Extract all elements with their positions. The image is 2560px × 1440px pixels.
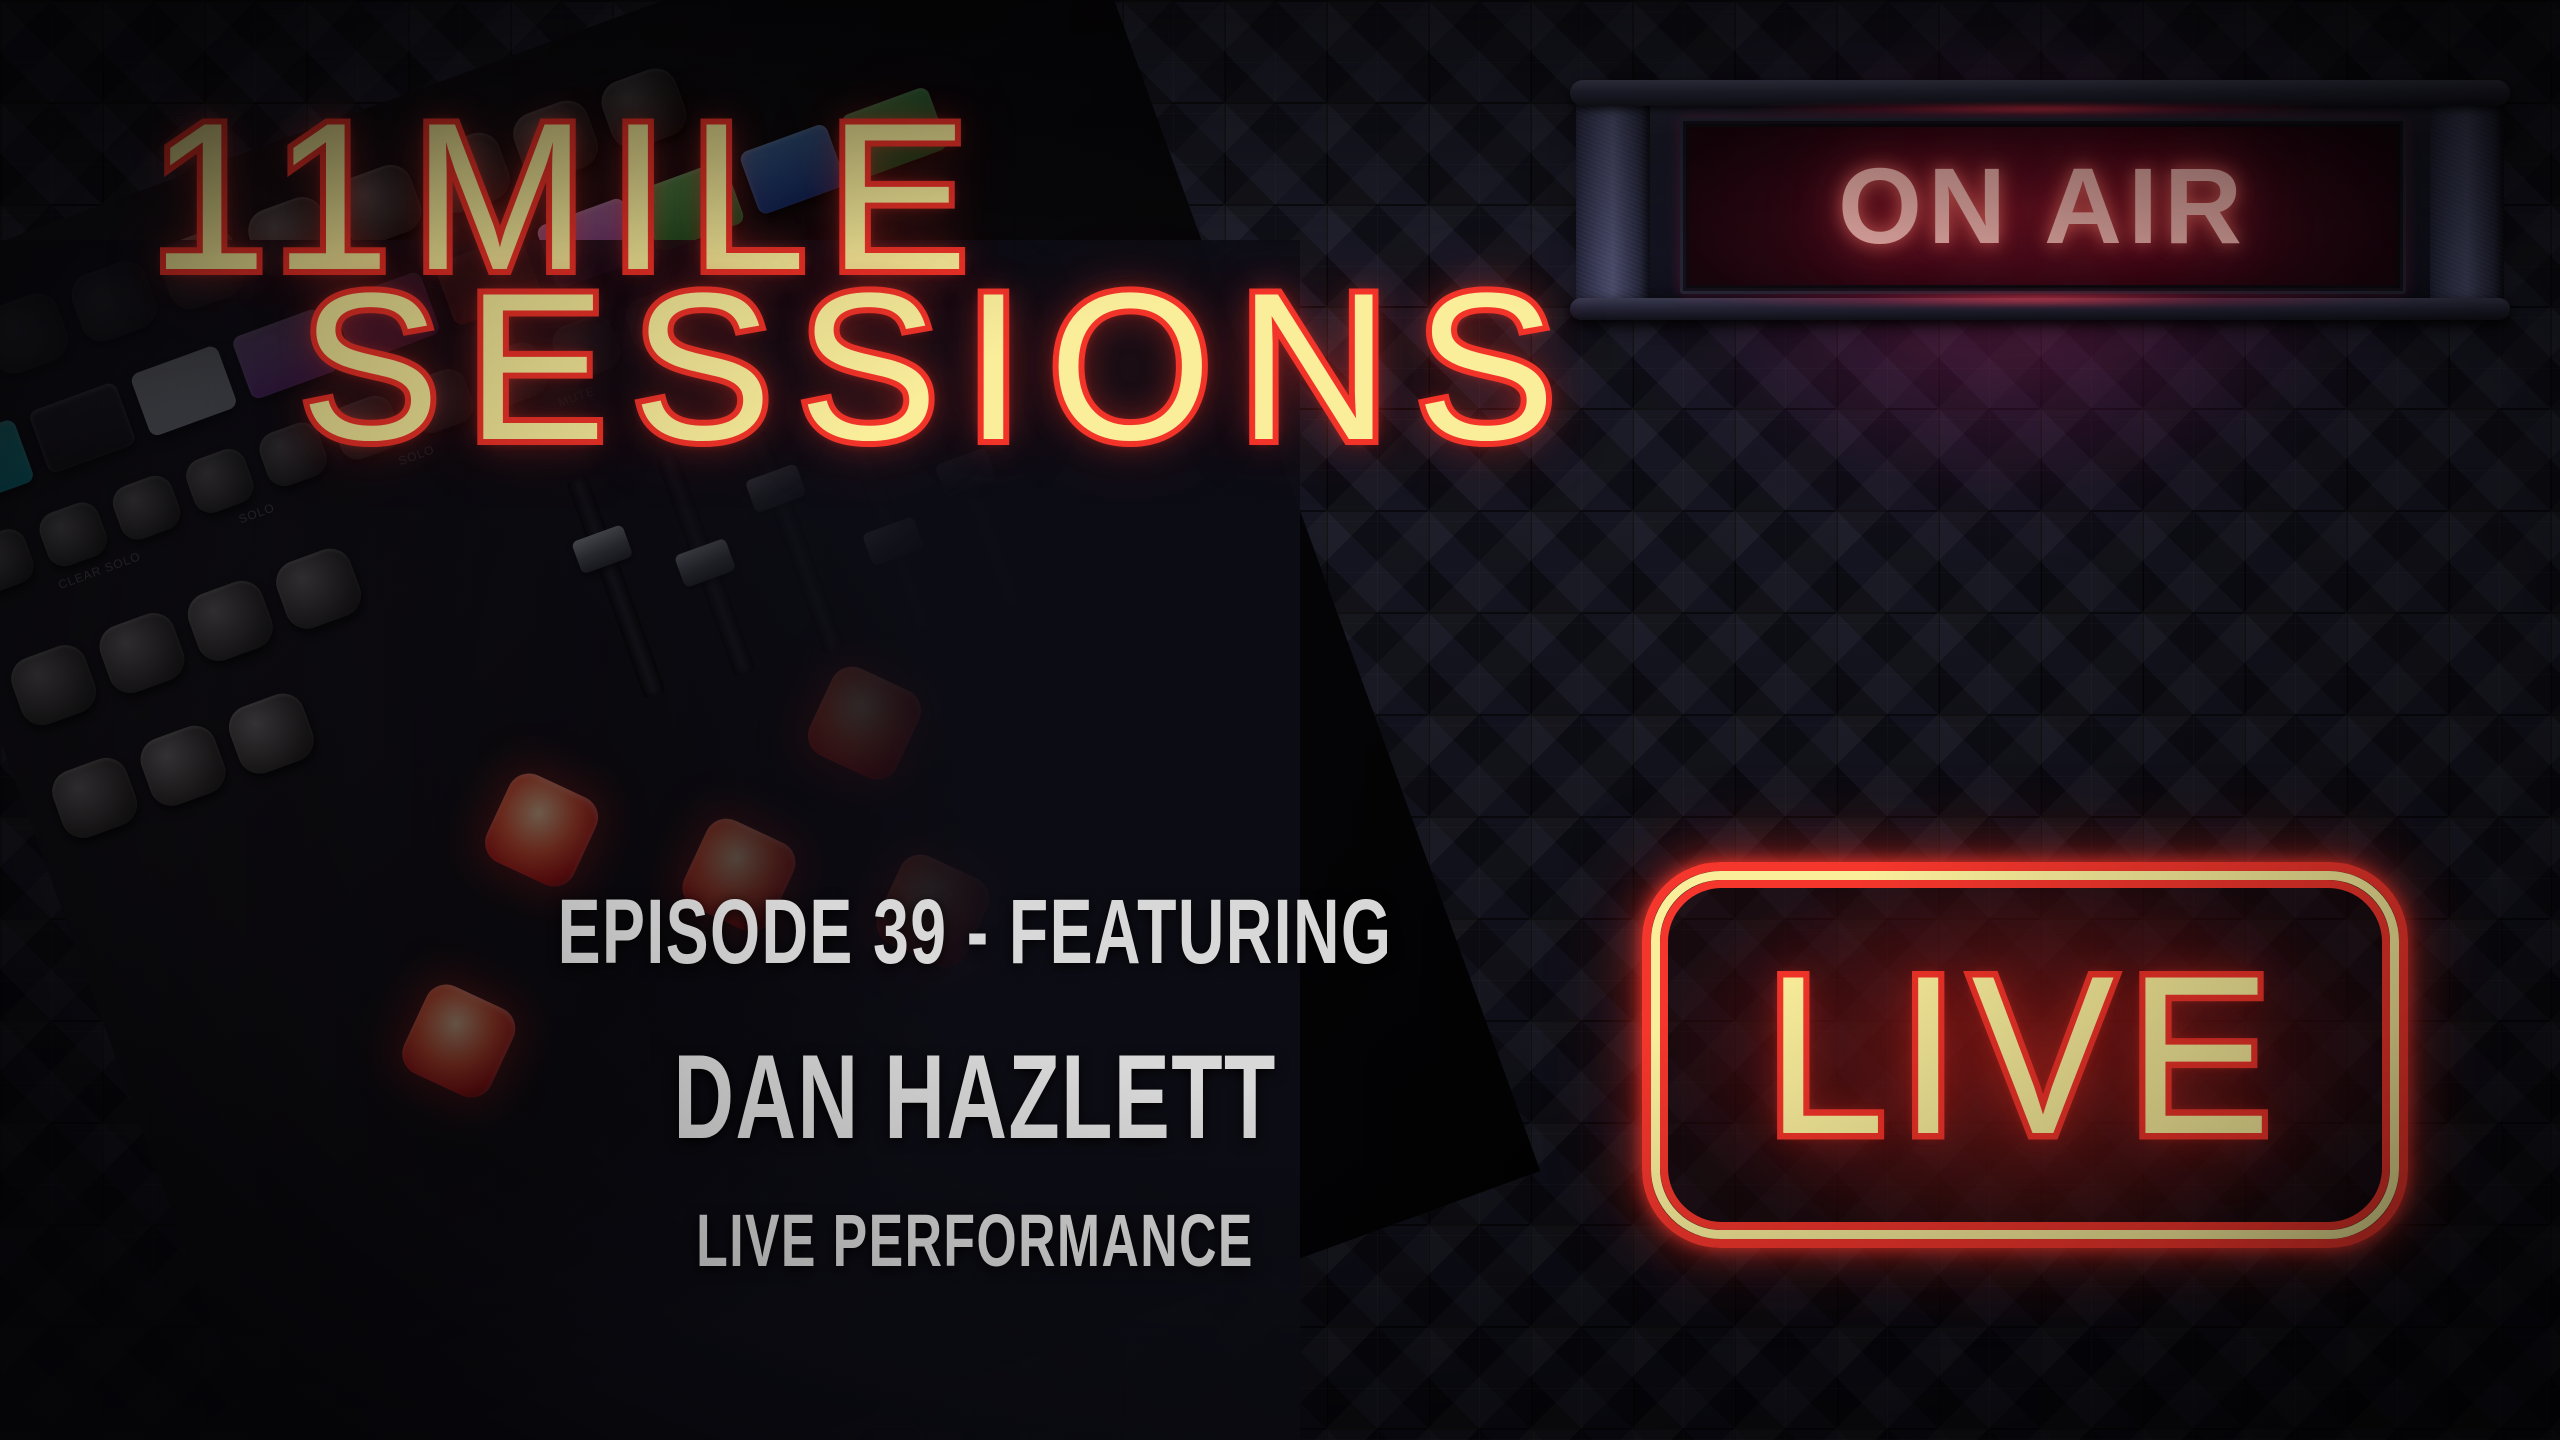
on-air-top-light-spill (1688, 104, 2394, 114)
on-air-bezel: ON AIR (1680, 118, 2406, 294)
live-sign-label: LIVE (1661, 862, 2389, 1248)
promo-poster: CLEAR SOLO SOLO SOLO MUTE MUTE MUTE (0, 0, 2560, 1440)
live-sign: LIVE (1642, 862, 2408, 1248)
on-air-top-rail (1570, 80, 2510, 106)
brand-title-line-2: SESSIONS (300, 262, 1582, 472)
on-air-panel: ON AIR (1689, 127, 2397, 285)
episode-subtitle: LIVE PERFORMANCE (293, 1198, 1658, 1283)
on-air-pillar-right (2430, 92, 2504, 310)
on-air-bottom-light-spill (1688, 292, 2394, 306)
on-air-label: ON AIR (1838, 152, 2248, 260)
episode-headline: EPISODE 39 - FEATURING (293, 880, 1658, 985)
episode-artist-name: DAN HAZLETT (293, 1028, 1658, 1166)
on-air-sign: ON AIR (1592, 98, 2488, 308)
on-air-pillar-left (1576, 92, 1650, 310)
